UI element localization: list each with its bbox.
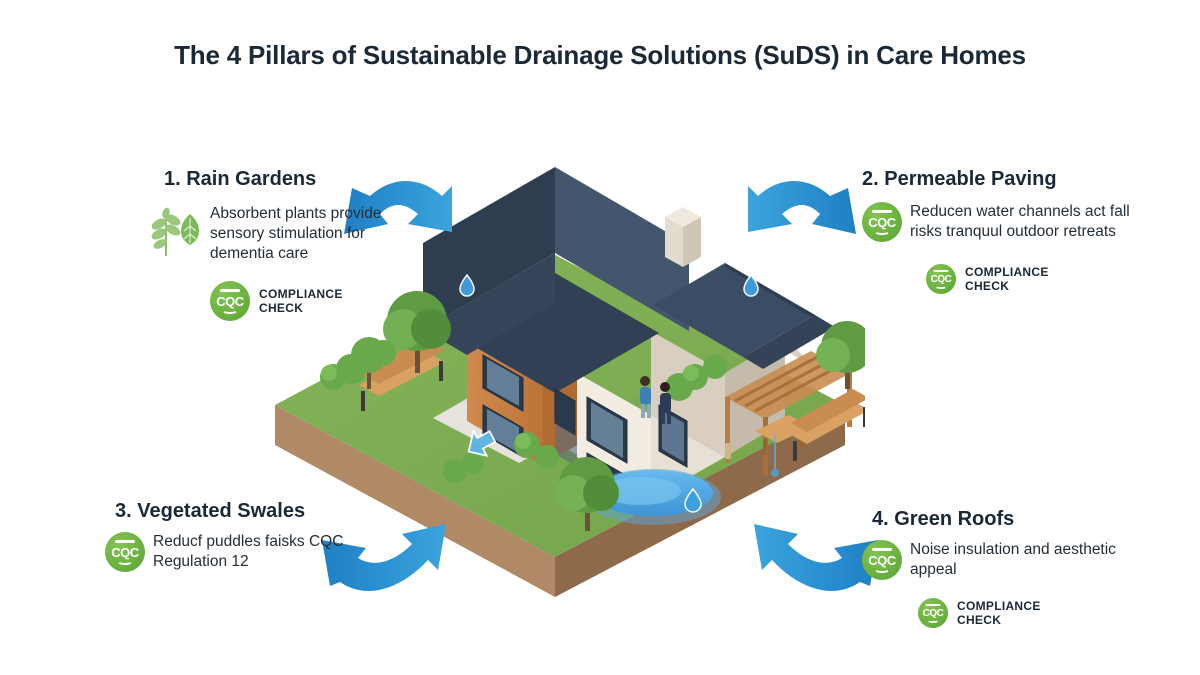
pillar-3-heading: 3. Vegetated Swales xyxy=(115,500,385,522)
cqc-badge-icon: CQC xyxy=(862,540,902,580)
cqc-badge-icon: CQC xyxy=(918,598,948,628)
pillar-4-heading: 4. Green Roofs xyxy=(872,508,1142,530)
pillar-permeable-paving[interactable]: 2. Permeable Paving CQC Reducen water ch… xyxy=(862,168,1142,294)
pillar-2-heading: 2. Permeable Paving xyxy=(862,168,1142,190)
pillar-green-roofs[interactable]: 4. Green Roofs CQC Noise insulation and … xyxy=(862,508,1142,628)
cqc-badge-label: CQC xyxy=(923,608,944,619)
cqc-badge-icon: CQC xyxy=(862,202,902,242)
pillar-1-compliance-check[interactable]: CQC COMPLIANCE CHECK xyxy=(210,281,410,321)
pillar-vegetated-swales[interactable]: 3. Vegetated Swales CQC Reducf puddles f… xyxy=(105,500,385,572)
pillar-3-body: Reducf puddles faisks CQC Regulation 12 xyxy=(153,532,385,572)
page-title: The 4 Pillars of Sustainable Drainage So… xyxy=(0,40,1200,71)
pillar-4-body: Noise insulation and aesthetic appeal xyxy=(910,540,1142,580)
pillar-1-body: Absorbent plants provide sensory stimula… xyxy=(210,202,410,263)
pillar-2-compliance-check[interactable]: CQC COMPLIANCE CHECK xyxy=(926,264,1142,294)
infographic-canvas: The 4 Pillars of Sustainable Drainage So… xyxy=(0,0,1200,675)
pillar-1-heading: 1. Rain Gardens xyxy=(164,168,410,190)
cqc-badge-icon: CQC xyxy=(105,532,145,572)
pillar-4-compliance-check[interactable]: CQC COMPLIANCE CHECK xyxy=(918,598,1142,628)
pillar-2-body: Reducen water channels act fall risks tr… xyxy=(910,202,1142,242)
cqc-badge-label: CQC xyxy=(931,274,952,285)
compliance-check-label: COMPLIANCE CHECK xyxy=(957,599,1041,627)
leaf-sprig-icon xyxy=(150,202,202,258)
pillar-rain-gardens[interactable]: 1. Rain Gardens xyxy=(150,168,410,321)
cqc-badge-icon: CQC xyxy=(926,264,956,294)
compliance-check-label: COMPLIANCE CHECK xyxy=(965,265,1049,293)
cqc-badge-icon: CQC xyxy=(210,281,250,321)
compliance-check-label: COMPLIANCE CHECK xyxy=(259,287,343,315)
